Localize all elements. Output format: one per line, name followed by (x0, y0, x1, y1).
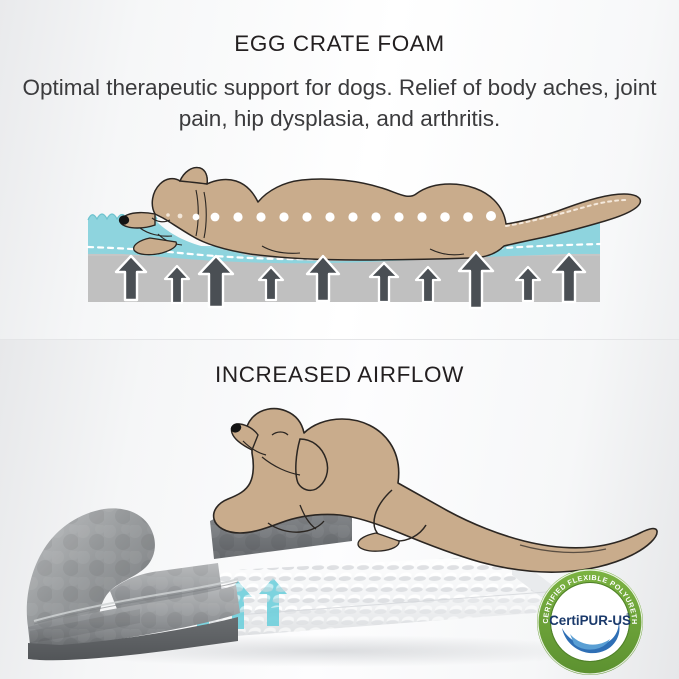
badge-center-text: CertiPUR-US (549, 613, 631, 628)
illustration-dog-on-foam-cross-section (0, 150, 679, 325)
section-egg-crate-foam: EGG CRATE FOAM Optimal therapeutic suppo… (0, 0, 679, 339)
page-title-increased-airflow: INCREASED AIRFLOW (0, 362, 679, 388)
badge-trademark: ® (626, 612, 630, 619)
page-title-egg-crate-foam: EGG CRATE FOAM (0, 31, 679, 57)
certipur-us-badge: CONTAINS CERTIFIED FLEXIBLE POLYURETHANE… (536, 568, 644, 676)
dog-nose (119, 215, 129, 224)
infographic-page: EGG CRATE FOAM Optimal therapeutic suppo… (0, 0, 679, 679)
section-description-egg-crate-foam: Optimal therapeutic support for dogs. Re… (22, 72, 657, 134)
